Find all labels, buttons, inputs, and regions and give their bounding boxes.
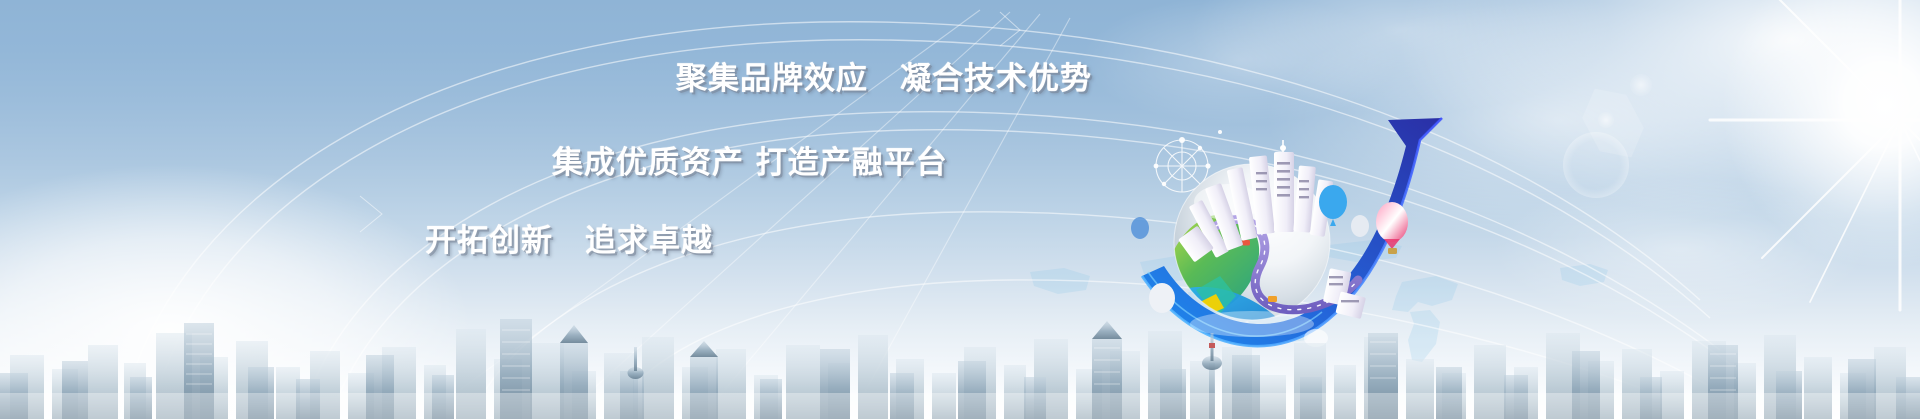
slogan-line-2: 集成优质资产 打造产融平台: [552, 137, 948, 182]
slogan-group: 聚集品牌效应 凝合技术优势 集成优质资产 打造产融平台 开拓创新 追求卓越: [0, 0, 1920, 419]
slogan-line-3: 开拓创新 追求卓越: [425, 215, 713, 260]
slogan-line-1: 聚集品牌效应 凝合技术优势: [676, 53, 1092, 98]
hero-banner: 聚集品牌效应 凝合技术优势 集成优质资产 打造产融平台 开拓创新 追求卓越: [0, 0, 1920, 419]
